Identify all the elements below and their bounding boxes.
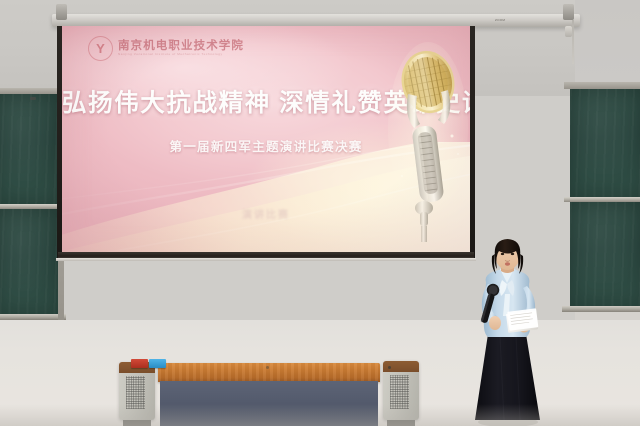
housing-cable bbox=[572, 20, 574, 64]
screen-bottom-weight bbox=[56, 258, 476, 261]
speech-script bbox=[506, 308, 539, 333]
eraser-blue[interactable] bbox=[149, 359, 166, 368]
podium-knob bbox=[266, 366, 269, 369]
housing-mount-block bbox=[565, 26, 572, 37]
screen-vignette bbox=[62, 26, 470, 256]
speaker-screw-right bbox=[388, 366, 391, 369]
eraser-red[interactable] bbox=[131, 359, 148, 368]
hand-left bbox=[489, 316, 501, 330]
projection-screen: Y 南京机电职业技术学院 Nanjing Vocational Institut… bbox=[62, 26, 470, 256]
housing-brand-label: ZOOM bbox=[495, 18, 505, 22]
screen-edge-right bbox=[470, 26, 475, 258]
student-speaker bbox=[448, 238, 566, 426]
floor-shadow bbox=[0, 404, 640, 426]
classroom-scene: ZOOM bbox=[0, 0, 640, 426]
board-clip-left bbox=[30, 97, 36, 100]
podium-wood-top bbox=[158, 363, 380, 382]
